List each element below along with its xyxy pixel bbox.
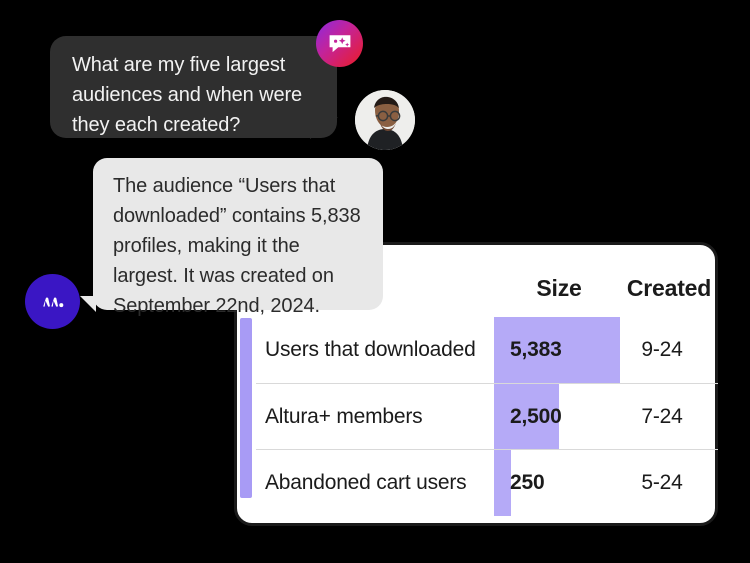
cell-audience-name: Altura+ members xyxy=(265,384,495,450)
table-row[interactable]: Altura+ members 2,500 7-24 xyxy=(256,383,718,449)
cell-created: 5-24 xyxy=(612,450,712,516)
cell-created: 7-24 xyxy=(612,384,712,450)
table-row[interactable]: Users that downloaded 5,383 9-24 xyxy=(256,317,718,383)
table-body: Users that downloaded 5,383 9-24 Altura+… xyxy=(256,317,718,526)
table-row[interactable]: Abandoned cart users 250 5-24 xyxy=(256,449,718,515)
cell-created: 9-24 xyxy=(612,317,712,383)
ai-assistant-sparkle-icon[interactable] xyxy=(316,20,363,67)
screenshot-stage: Size Created Users that downloaded 5,383… xyxy=(0,0,750,563)
size-bar xyxy=(494,450,511,516)
marketo-logo-icon[interactable] xyxy=(25,274,80,329)
assistant-message-bubble: The audience “Users that downloaded” con… xyxy=(93,158,383,310)
user-message-bubble: What are my five largest audiences and w… xyxy=(50,36,337,138)
cell-audience-name: Abandoned cart users xyxy=(265,450,495,516)
column-header-size: Size xyxy=(494,275,624,302)
column-header-created: Created xyxy=(624,275,714,302)
card-accent-bar xyxy=(240,318,252,498)
user-avatar-photo[interactable] xyxy=(355,90,415,150)
cell-audience-name: Users that downloaded xyxy=(265,317,495,383)
